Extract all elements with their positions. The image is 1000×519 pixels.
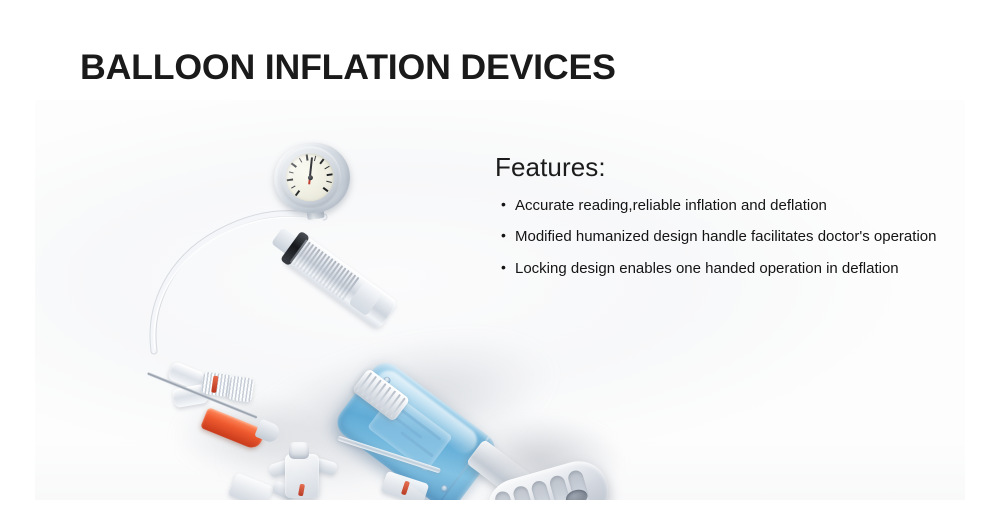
features-list: • Accurate reading,reliable inflation an…: [495, 195, 955, 279]
bullet-icon: •: [501, 258, 515, 278]
gauge-dial-face: [283, 150, 337, 204]
feature-item: • Modified humanized design handle facil…: [495, 226, 955, 247]
panel-bottom-shadow: [35, 440, 965, 500]
feature-text: Locking design enables one handed operat…: [515, 258, 899, 279]
features-heading: Features:: [495, 152, 955, 183]
slide-root: BALLOON INFLATION DEVICES: [0, 0, 1000, 519]
feature-item: • Locking design enables one handed oper…: [495, 258, 955, 279]
gauge-hub: [307, 174, 313, 180]
pressure-gauge: [262, 129, 361, 226]
page-title: BALLOON INFLATION DEVICES: [80, 48, 616, 88]
feature-text: Accurate reading,reliable inflation and …: [515, 195, 827, 216]
feature-item: • Accurate reading,reliable inflation an…: [495, 195, 955, 216]
features-block: Features: • Accurate reading,reliable in…: [495, 152, 955, 289]
bullet-icon: •: [501, 195, 515, 215]
bullet-icon: •: [501, 226, 515, 246]
feature-text: Modified humanized design handle facilit…: [515, 226, 936, 247]
